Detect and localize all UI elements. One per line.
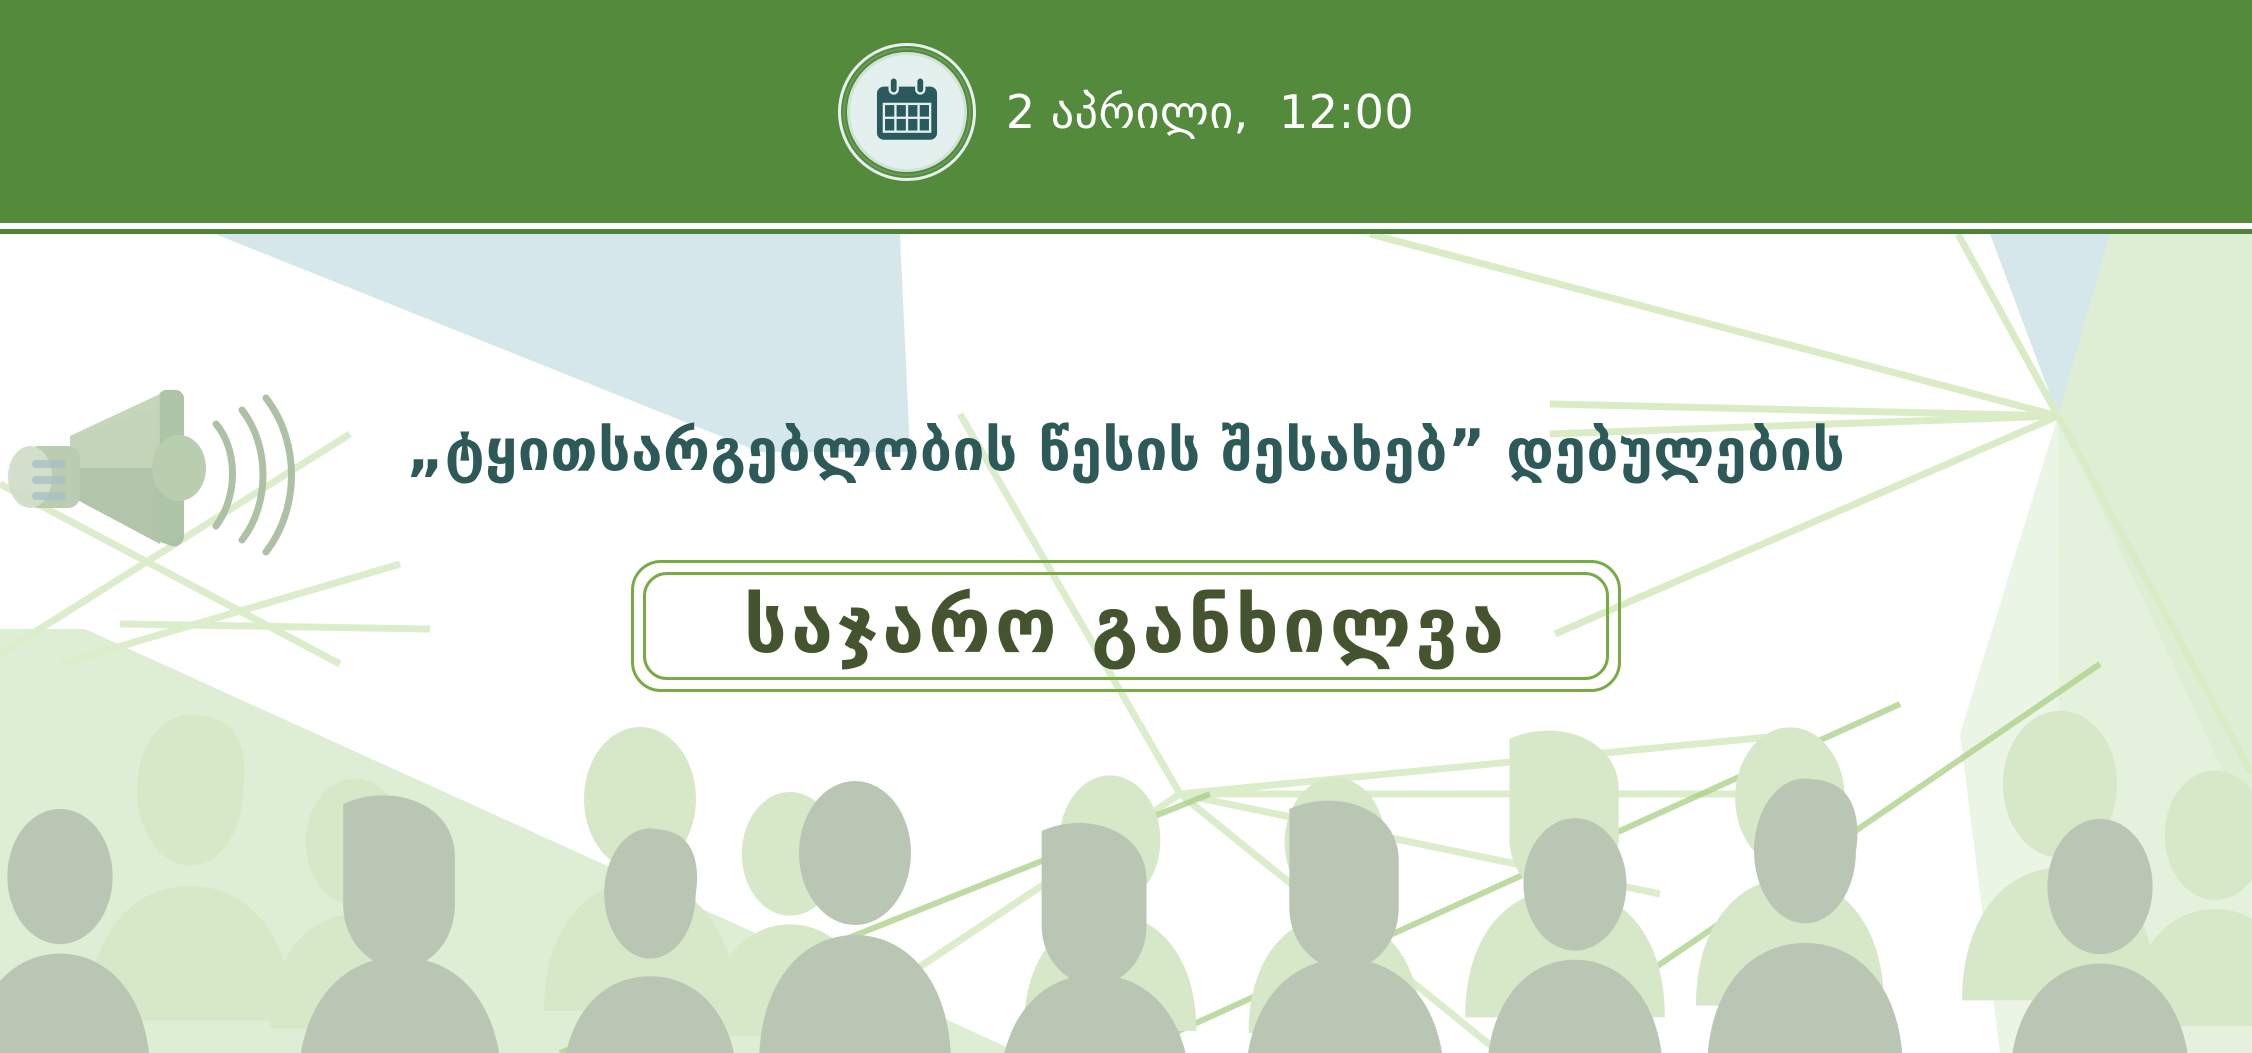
- header-divider-rule: [0, 229, 2252, 234]
- calendar-icon: [870, 75, 944, 149]
- page-title: „ტყითსარგებლობის წესის შესახებ” დებულები…: [0, 418, 2252, 484]
- header-content: 2 აპრილი, 12:00: [0, 0, 2252, 223]
- calendar-badge: [838, 43, 976, 181]
- event-date-time: 2 აპრილი, 12:00: [1006, 89, 1414, 135]
- highlight-box: საჯარო განხილვა: [631, 560, 1621, 692]
- decor-lines-center: [790, 414, 1800, 1053]
- announcement-poster: „ტყითსარგებლობის წესის შესახებ” დებულები…: [0, 0, 2252, 1053]
- highlight-label: საჯარო განხილვა: [744, 588, 1508, 664]
- green-wedge-bottom-left: [0, 629, 1020, 1053]
- highlight-box-inner: საჯარო განხილვა: [643, 572, 1609, 680]
